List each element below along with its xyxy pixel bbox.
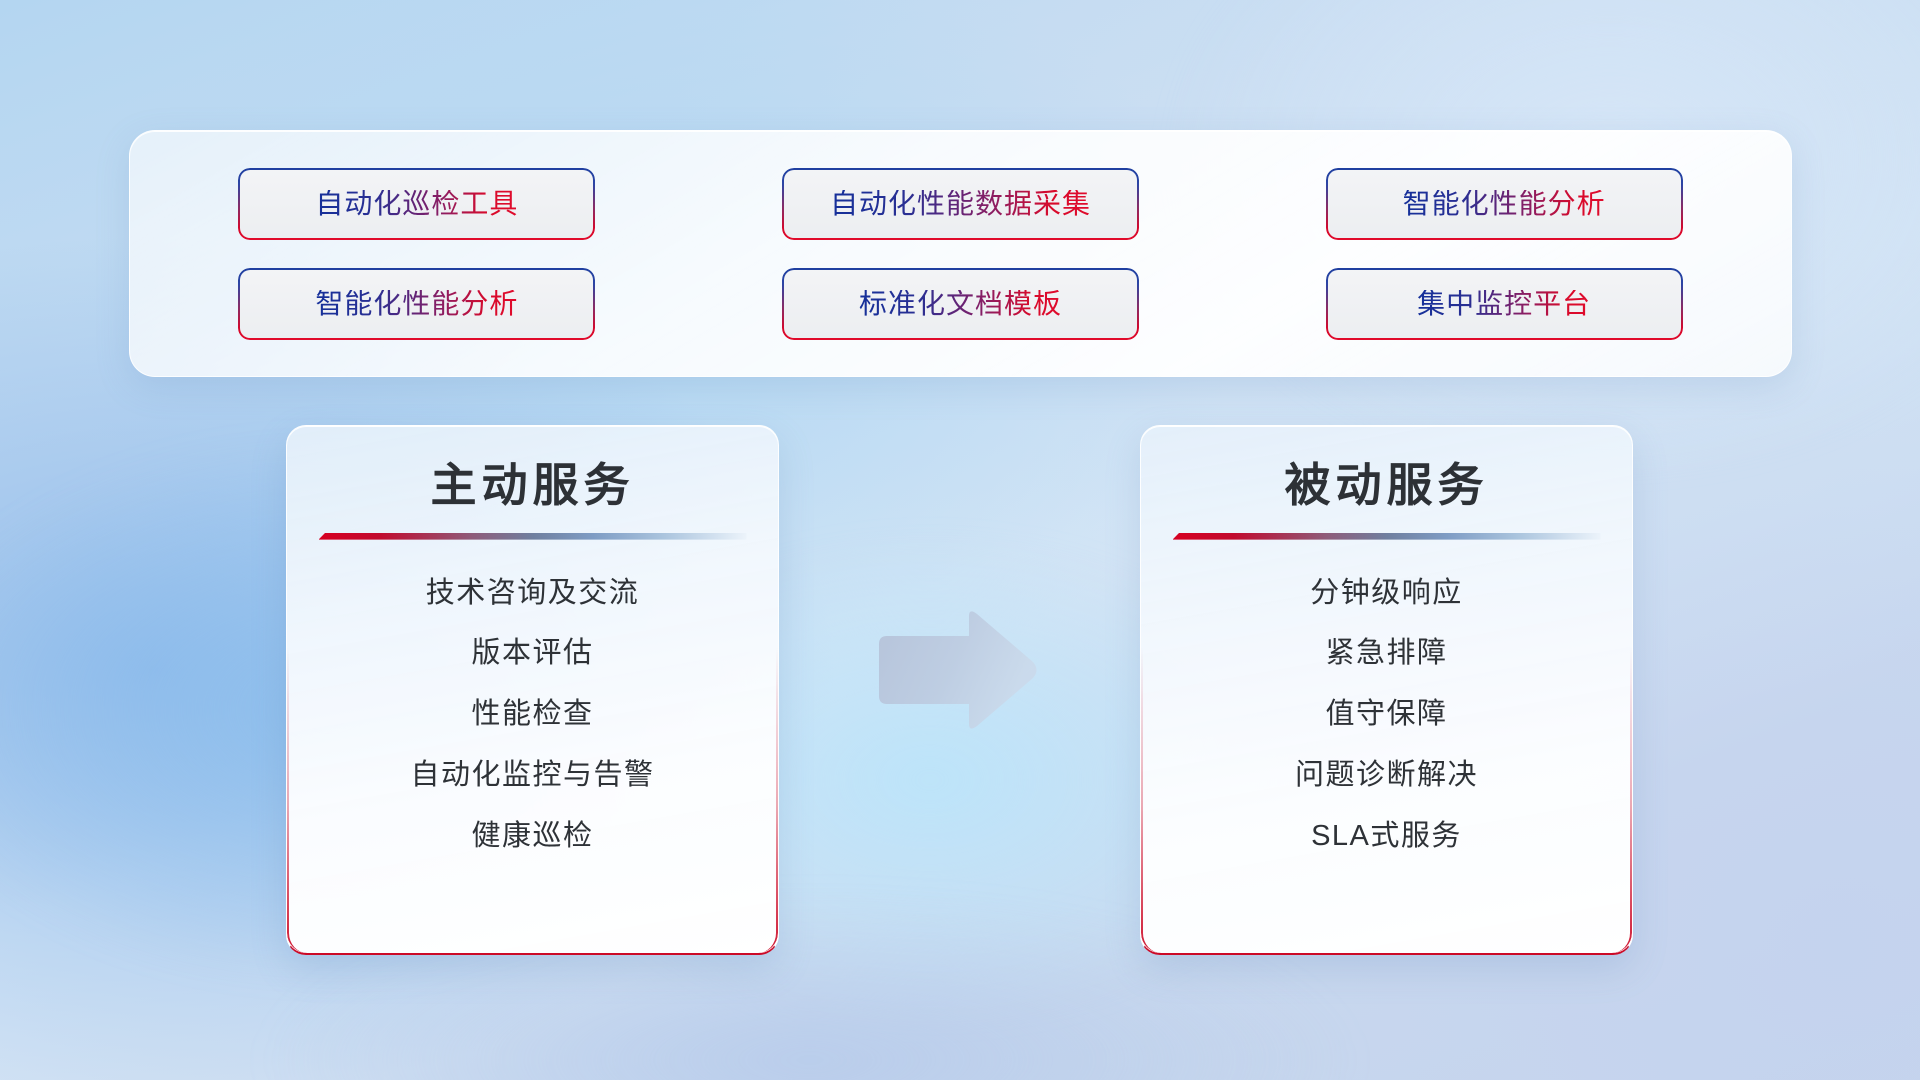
divider-bar xyxy=(319,533,747,540)
capability-tag-5[interactable]: 标准化文档模板 xyxy=(782,268,1139,340)
service-card-title: 被动服务 xyxy=(1141,460,1632,511)
divider-bar xyxy=(1173,533,1601,540)
list-item: 技术咨询及交流 xyxy=(426,576,640,611)
service-card-proactive[interactable]: 主动服务 技术咨询及交流 版本评估 性能检查 自动化监控与告警 健康巡检 xyxy=(286,425,779,955)
list-item: SLA式服务 xyxy=(1311,819,1462,854)
capability-tag-label: 智能化性能分析 xyxy=(1403,190,1606,218)
capability-tag-label: 自动化性能数据采集 xyxy=(830,190,1091,218)
service-card-divider xyxy=(1173,533,1601,540)
service-card-title: 主动服务 xyxy=(287,460,778,511)
list-item: 版本评估 xyxy=(471,636,593,671)
list-item: 分钟级响应 xyxy=(1310,576,1463,611)
service-card-divider xyxy=(319,533,747,540)
list-item: 性能检查 xyxy=(471,697,593,732)
capability-tag-3[interactable]: 智能化性能分析 xyxy=(1326,168,1683,240)
list-item: 自动化监控与告警 xyxy=(410,758,654,793)
service-card-reactive[interactable]: 被动服务 分钟级响应 紧急排障 值守保障 问题诊断解决 SLA式服务 xyxy=(1140,425,1633,955)
capability-tag-label: 集中监控平台 xyxy=(1417,290,1591,318)
capability-tag-2[interactable]: 自动化性能数据采集 xyxy=(782,168,1139,240)
capability-tag-label: 智能化性能分析 xyxy=(315,290,518,318)
right-arrow-icon xyxy=(873,610,1039,730)
capability-tag-6[interactable]: 集中监控平台 xyxy=(1326,268,1683,340)
list-item: 值守保障 xyxy=(1325,697,1447,732)
capability-tags-panel: 自动化巡检工具 自动化性能数据采集 智能化性能分析 智能化性能分析 标准化文档模… xyxy=(129,130,1792,377)
capability-tag-1[interactable]: 自动化巡检工具 xyxy=(238,168,595,240)
capability-tag-4[interactable]: 智能化性能分析 xyxy=(238,268,595,340)
list-item: 问题诊断解决 xyxy=(1295,758,1478,793)
capability-tag-label: 自动化巡检工具 xyxy=(315,190,518,218)
service-card-list: 分钟级响应 紧急排障 值守保障 问题诊断解决 SLA式服务 xyxy=(1141,576,1632,854)
capability-tag-label: 标准化文档模板 xyxy=(859,290,1062,318)
service-card-list: 技术咨询及交流 版本评估 性能检查 自动化监控与告警 健康巡检 xyxy=(287,576,778,854)
capability-tags-grid: 自动化巡检工具 自动化性能数据采集 智能化性能分析 智能化性能分析 标准化文档模… xyxy=(186,168,1735,340)
list-item: 健康巡检 xyxy=(471,819,593,854)
list-item: 紧急排障 xyxy=(1325,636,1447,671)
